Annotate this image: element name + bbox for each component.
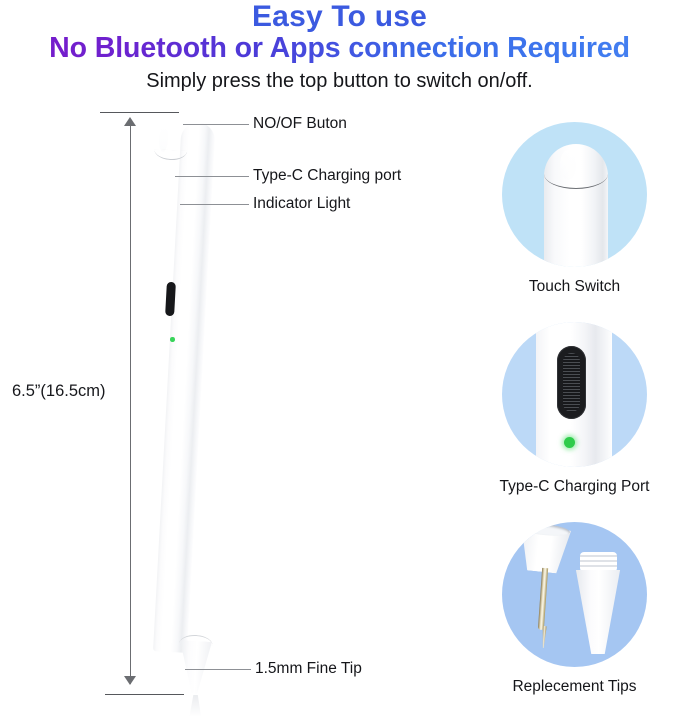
callout-label-indicator-light: Indicator Light	[253, 195, 350, 213]
pen-fine-tip	[177, 640, 212, 695]
feature-caption-charging-port: Type-C Charging Port	[470, 477, 679, 496]
pen-top-body	[544, 144, 608, 267]
feature-touch-switch: Touch Switch	[470, 122, 679, 296]
stylus-pen-illustration	[140, 112, 220, 697]
dimension-arrow-down-icon	[124, 676, 136, 685]
pen-indicator-led-icon	[170, 337, 175, 342]
dimension-line	[130, 120, 131, 684]
header-block: Easy To use No Bluetooth or Apps connect…	[0, 0, 679, 94]
spare-tip-cone	[574, 570, 622, 654]
usb-c-port-pins	[563, 353, 580, 412]
indicator-led-icon	[564, 437, 575, 448]
pen-usb-c-port-icon	[165, 282, 176, 316]
tip-metal-shaft	[538, 568, 548, 630]
callout-label-charging-port: Type-C Charging port	[253, 167, 401, 185]
spare-tip-threads	[580, 552, 617, 572]
leader-line-indicator-light	[180, 204, 249, 205]
feature-replacement-tips: Replecement Tips	[470, 522, 679, 696]
headline-subtitle: Simply press the top button to switch on…	[0, 64, 679, 94]
pen-cap-highlight	[158, 126, 168, 152]
leader-line-charging-port	[175, 176, 249, 177]
leader-line-power-button	[183, 124, 249, 125]
leader-line-fine-tip	[185, 669, 251, 670]
feature-caption-replacement-tips: Replecement Tips	[470, 677, 679, 696]
feature-touch-switch-image	[502, 122, 647, 267]
pen-body	[153, 122, 216, 653]
feature-replacement-tips-image	[502, 522, 647, 667]
dimension-arrow-up-icon	[124, 117, 136, 126]
callout-label-power-button: NO/OF Buton	[253, 115, 347, 133]
headline-secondary: No Bluetooth or Apps connection Required	[0, 33, 679, 64]
headline-primary: Easy To use	[0, 0, 679, 33]
feature-caption-touch-switch: Touch Switch	[470, 277, 679, 296]
dimension-label: 6.5”(16.5cm)	[12, 382, 106, 401]
callout-label-fine-tip: 1.5mm Fine Tip	[255, 660, 362, 678]
pen-tip-reflection	[181, 695, 209, 717]
feature-charging-port-image	[502, 322, 647, 467]
feature-charging-port: Type-C Charging Port	[470, 322, 679, 496]
